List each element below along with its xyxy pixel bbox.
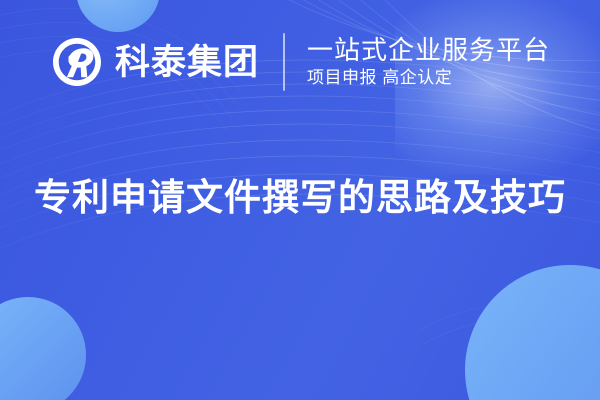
promo-banner: 科泰集团 一站式企业服务平台 项目申报 高企认定 专利申请文件撰写的思路及技巧 <box>0 0 600 400</box>
page-title: 专利申请文件撰写的思路及技巧 <box>34 175 566 221</box>
title-container: 专利申请文件撰写的思路及技巧 <box>0 150 600 246</box>
tagline-group: 一站式企业服务平台 项目申报 高企认定 <box>307 36 550 88</box>
brand-lockup: 科泰集团 <box>52 37 259 87</box>
decorative-circle-bottom-right <box>465 265 600 400</box>
tagline-main: 一站式企业服务平台 <box>307 36 550 65</box>
brand-name: 科泰集团 <box>115 45 259 80</box>
decorative-circle-bottom-left <box>0 297 86 400</box>
header-divider <box>283 33 285 91</box>
ketai-circular-logo-icon <box>52 37 102 87</box>
banner-header: 科泰集团 一站式企业服务平台 项目申报 高企认定 <box>0 26 600 98</box>
tagline-sub: 项目申报 高企认定 <box>307 68 550 88</box>
